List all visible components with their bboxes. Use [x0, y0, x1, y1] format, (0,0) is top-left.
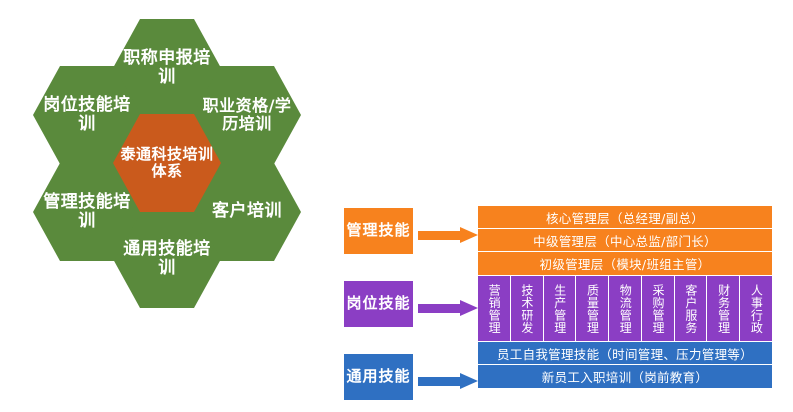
table-row[interactable]: 初级管理层（模块/班组主管）: [478, 252, 772, 275]
hex-petal-label: 管理技能培训: [33, 193, 141, 231]
column-label: 人事行政: [750, 284, 762, 334]
arrow-shaft: [418, 304, 462, 313]
row-label: 核心管理层（总经理/副总）: [546, 208, 704, 227]
grid-column[interactable]: 客户服务: [675, 276, 708, 341]
arrow-head: [460, 373, 478, 389]
category-label-text: 管理技能: [346, 222, 410, 239]
column-label: 客户服务: [684, 284, 696, 334]
hex-petal-label: 客户培训: [208, 202, 286, 221]
table-row[interactable]: 员工自我管理技能（时间管理、压力管理等）: [478, 342, 772, 365]
slide-canvas: 职称申报培训 职业资格/学历培训 客户培训 通用技能培训 管理技能培训 岗位技能…: [0, 0, 793, 412]
column-label: 技术研发: [520, 284, 532, 334]
category-label-text: 通用技能: [346, 368, 410, 385]
grid-column[interactable]: 质量管理: [576, 276, 609, 341]
category-label-position[interactable]: 岗位技能: [344, 281, 413, 327]
grid-column[interactable]: 技术研发: [511, 276, 544, 341]
hex-petal-label: 职称申报培训: [113, 49, 221, 87]
row-label: 中级管理层（中心总监/部门长）: [533, 231, 717, 250]
hex-petal-label: 职业资格/学历培训: [193, 97, 301, 133]
column-label: 质量管理: [586, 284, 598, 334]
column-label: 财务管理: [717, 284, 729, 334]
hex-center-label: 泰通科技培训体系: [113, 146, 221, 180]
column-label: 采购管理: [652, 284, 664, 334]
category-label-management[interactable]: 管理技能: [344, 208, 413, 254]
position-function-grid: 营销管理 技术研发 生产管理 质量管理 物流管理 采购管理 客户服务 财务管理 …: [478, 276, 772, 341]
column-label: 生产管理: [553, 284, 565, 334]
general-skill-table: 员工自我管理技能（时间管理、压力管理等） 新员工入职培训（岗前教育）: [478, 342, 772, 389]
table-row[interactable]: 核心管理层（总经理/副总）: [478, 206, 772, 229]
row-label: 初级管理层（模块/班组主管）: [540, 254, 711, 273]
arrow-shaft: [418, 377, 462, 386]
column-label: 营销管理: [488, 284, 500, 334]
category-label-text: 岗位技能: [346, 295, 410, 312]
category-label-general[interactable]: 通用技能: [344, 354, 413, 400]
arrow-head: [460, 300, 478, 316]
grid-column[interactable]: 营销管理: [478, 276, 511, 341]
arrow-shaft: [418, 231, 462, 240]
column-label: 物流管理: [619, 284, 631, 334]
grid-column[interactable]: 人事行政: [740, 276, 772, 341]
table-row[interactable]: 新员工入职培训（岗前教育）: [478, 365, 772, 388]
table-row[interactable]: 中级管理层（中心总监/部门长）: [478, 229, 772, 252]
hexagon-diagram: 职称申报培训 职业资格/学历培训 客户培训 通用技能培训 管理技能培训 岗位技能…: [0, 0, 340, 412]
grid-column[interactable]: 物流管理: [609, 276, 642, 341]
row-label: 新员工入职培训（岗前教育）: [542, 367, 708, 386]
grid-column[interactable]: 采购管理: [642, 276, 675, 341]
grid-column[interactable]: 财务管理: [707, 276, 740, 341]
hex-petal-label: 通用技能培训: [113, 240, 221, 278]
row-label: 员工自我管理技能（时间管理、压力管理等）: [497, 344, 753, 363]
grid-column[interactable]: 生产管理: [544, 276, 577, 341]
arrow-head: [460, 227, 478, 243]
management-tier-table: 核心管理层（总经理/副总） 中级管理层（中心总监/部门长） 初级管理层（模块/班…: [478, 206, 772, 275]
hex-petal-label: 岗位技能培训: [33, 96, 141, 134]
